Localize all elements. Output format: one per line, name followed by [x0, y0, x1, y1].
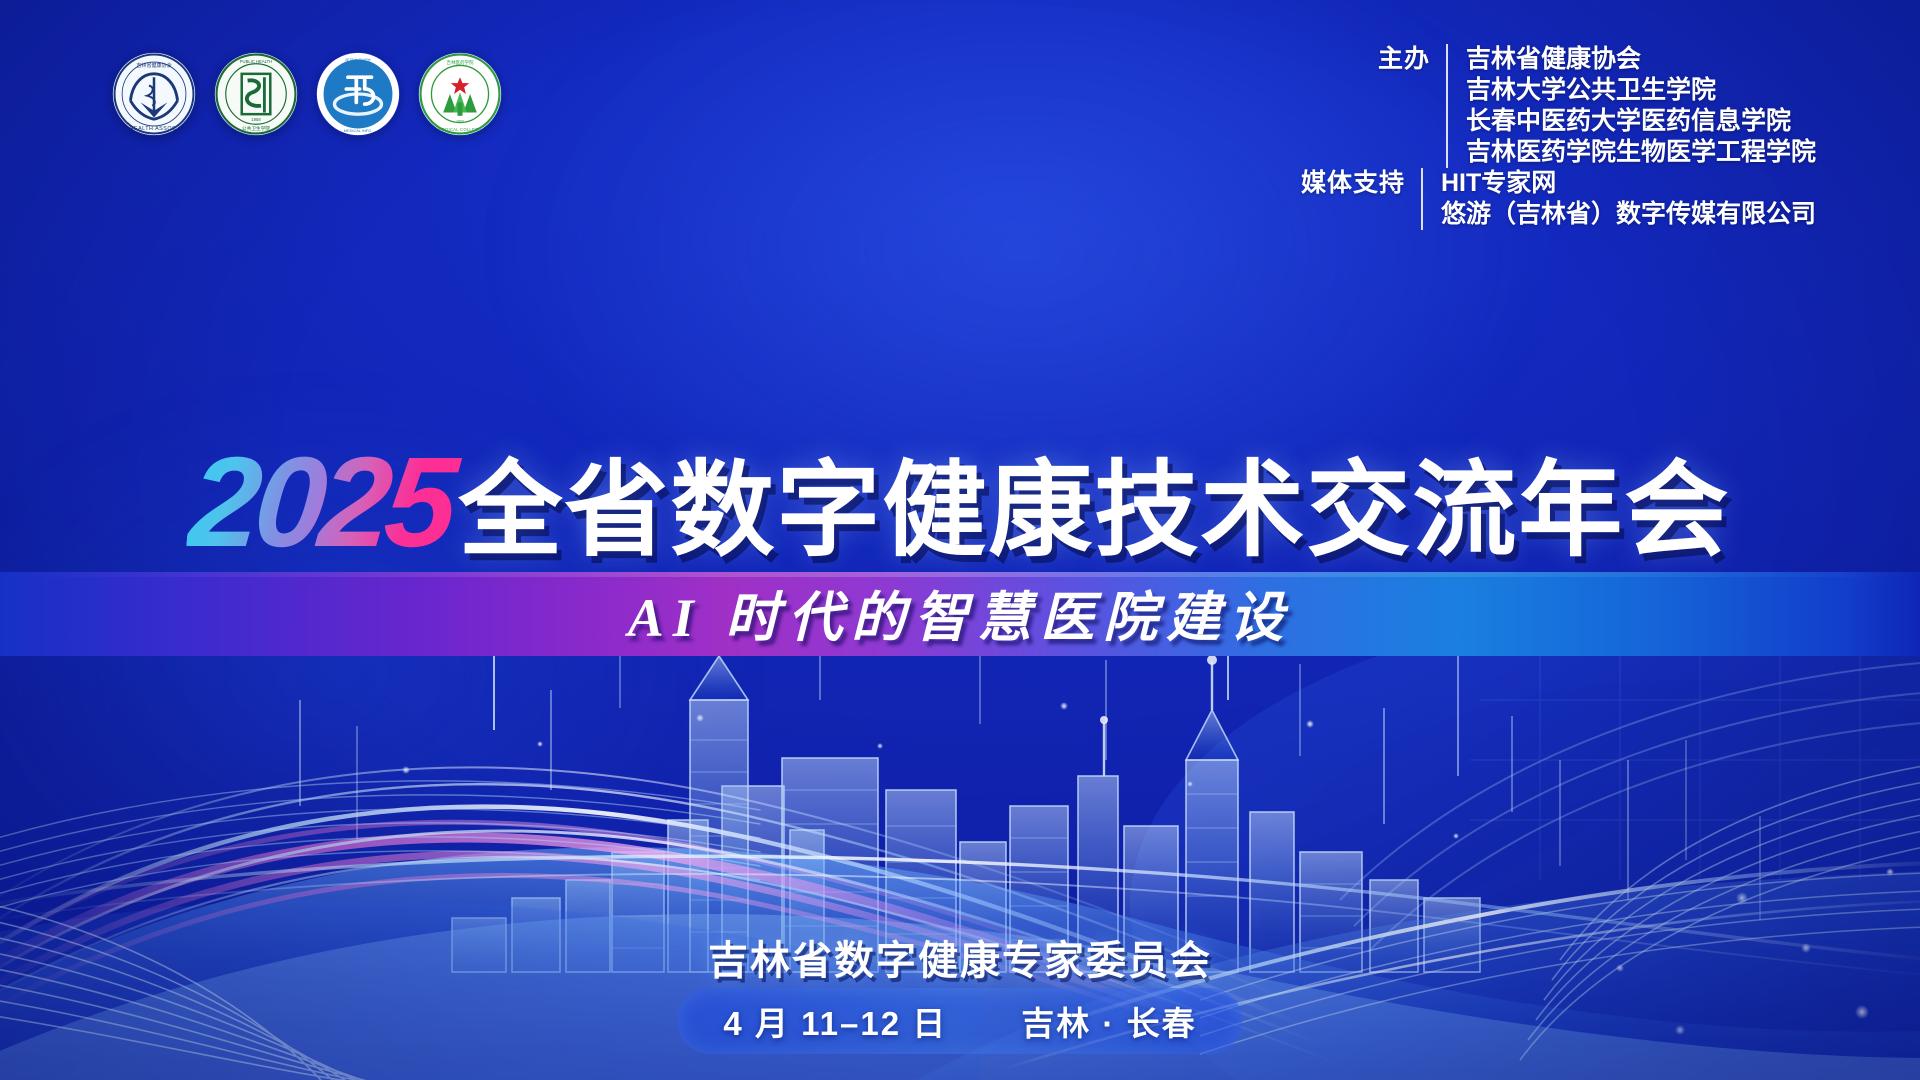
city-skyline	[452, 601, 1480, 972]
media-values: HIT专家网 悠游（吉林省）数字传媒有限公司	[1421, 168, 1816, 230]
event-date: 4 月 11–12 日	[723, 997, 947, 1045]
svg-text:MEDICAL COLLEGE: MEDICAL COLLEGE	[438, 127, 481, 132]
svg-text:公共卫生学院: 公共卫生学院	[242, 125, 270, 132]
svg-text:医药信息学院: 医药信息学院	[345, 57, 371, 64]
committee-name: 吉林省数字健康专家委员会	[0, 928, 1920, 986]
school-of-medical-information-logo: 医药信息学院 MEDICAL INFO.	[316, 52, 400, 136]
host-label: 主办	[1318, 44, 1446, 75]
dome-shape	[1130, 605, 1920, 1080]
subtitle-ribbon: AI 时代的智慧医院建设	[0, 572, 1920, 656]
event-location: 吉林 · 长春	[1021, 997, 1196, 1045]
host-row: 主办 吉林省健康协会 吉林大学公共卫生学院 长春中医药大学医药信息学院 吉林医药…	[1318, 44, 1816, 168]
svg-text:1958: 1958	[251, 117, 261, 122]
svg-text:PUBLIC HEALTH: PUBLIC HEALTH	[240, 59, 273, 64]
svg-text:吉林医药学院: 吉林医药学院	[446, 59, 474, 66]
organizer-logo-row: 吉林省健康协会 HEALTH ASSOC. PUBLIC HEALTH 1958…	[112, 52, 502, 136]
jilin-university-public-health-logo: PUBLIC HEALTH 1958 公共卫生学院	[214, 52, 298, 136]
media-item: 悠游（吉林省）数字传媒有限公司	[1441, 199, 1816, 230]
conference-banner: 吉林省健康协会 HEALTH ASSOC. PUBLIC HEALTH 1958…	[0, 0, 1920, 1080]
date-location-pill: 4 月 11–12 日 吉林 · 长春	[677, 988, 1242, 1054]
host-values: 吉林省健康协会 吉林大学公共卫生学院 长春中医药大学医药信息学院 吉林医药学院生…	[1446, 44, 1816, 168]
host-item: 吉林医药学院生物医学工程学院	[1466, 137, 1816, 168]
svg-text:1952: 1952	[456, 120, 464, 124]
media-label: 媒体支持	[1293, 168, 1421, 199]
host-item: 长春中医药大学医药信息学院	[1466, 106, 1816, 137]
organizer-credits: 主办 吉林省健康协会 吉林大学公共卫生学院 长春中医药大学医药信息学院 吉林医药…	[1293, 44, 1816, 230]
main-title: 2025 全省数字健康技术交流年会	[0, 435, 1920, 563]
host-item: 吉林省健康协会	[1466, 44, 1816, 75]
svg-text:HEALTH ASSOC.: HEALTH ASSOC.	[130, 126, 179, 132]
svg-text:吉林省健康协会: 吉林省健康协会	[136, 62, 171, 69]
conference-subtitle: AI 时代的智慧医院建设	[628, 573, 1293, 652]
conference-title: 全省数字健康技术交流年会	[458, 459, 1730, 563]
host-item: 吉林大学公共卫生学院	[1466, 75, 1816, 106]
media-item: HIT专家网	[1441, 168, 1816, 199]
media-row: 媒体支持 HIT专家网 悠游（吉林省）数字传媒有限公司	[1293, 168, 1816, 230]
year-2025: 2025	[184, 439, 464, 567]
jilin-medical-college-logo: 吉林医药学院 1952 MEDICAL COLLEGE	[418, 52, 502, 136]
svg-text:MEDICAL INFO.: MEDICAL INFO.	[344, 129, 372, 133]
jilin-health-association-logo: 吉林省健康协会 HEALTH ASSOC.	[112, 52, 196, 136]
